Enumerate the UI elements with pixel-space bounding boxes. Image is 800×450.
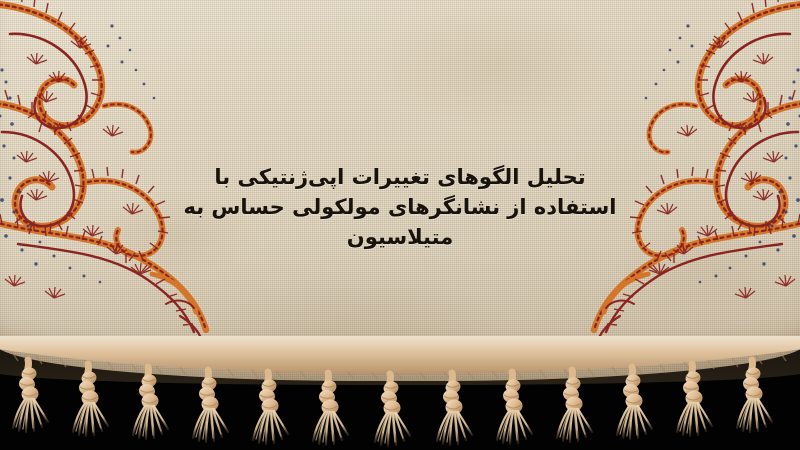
title-line-1: تحلیل الگوهای تغییرات اپی‌ژنتیکی با xyxy=(0,162,800,192)
slide-canvas: تحلیل الگوهای تغییرات اپی‌ژنتیکی با استف… xyxy=(0,0,800,450)
knotted-tassel-fringe xyxy=(0,356,800,450)
title-line-2: استفاده از نشانگرهای مولکولی حساس به xyxy=(0,192,800,222)
slide-title: تحلیل الگوهای تغییرات اپی‌ژنتیکی با استف… xyxy=(0,162,800,252)
title-line-3: متیلاسیون xyxy=(0,222,800,252)
